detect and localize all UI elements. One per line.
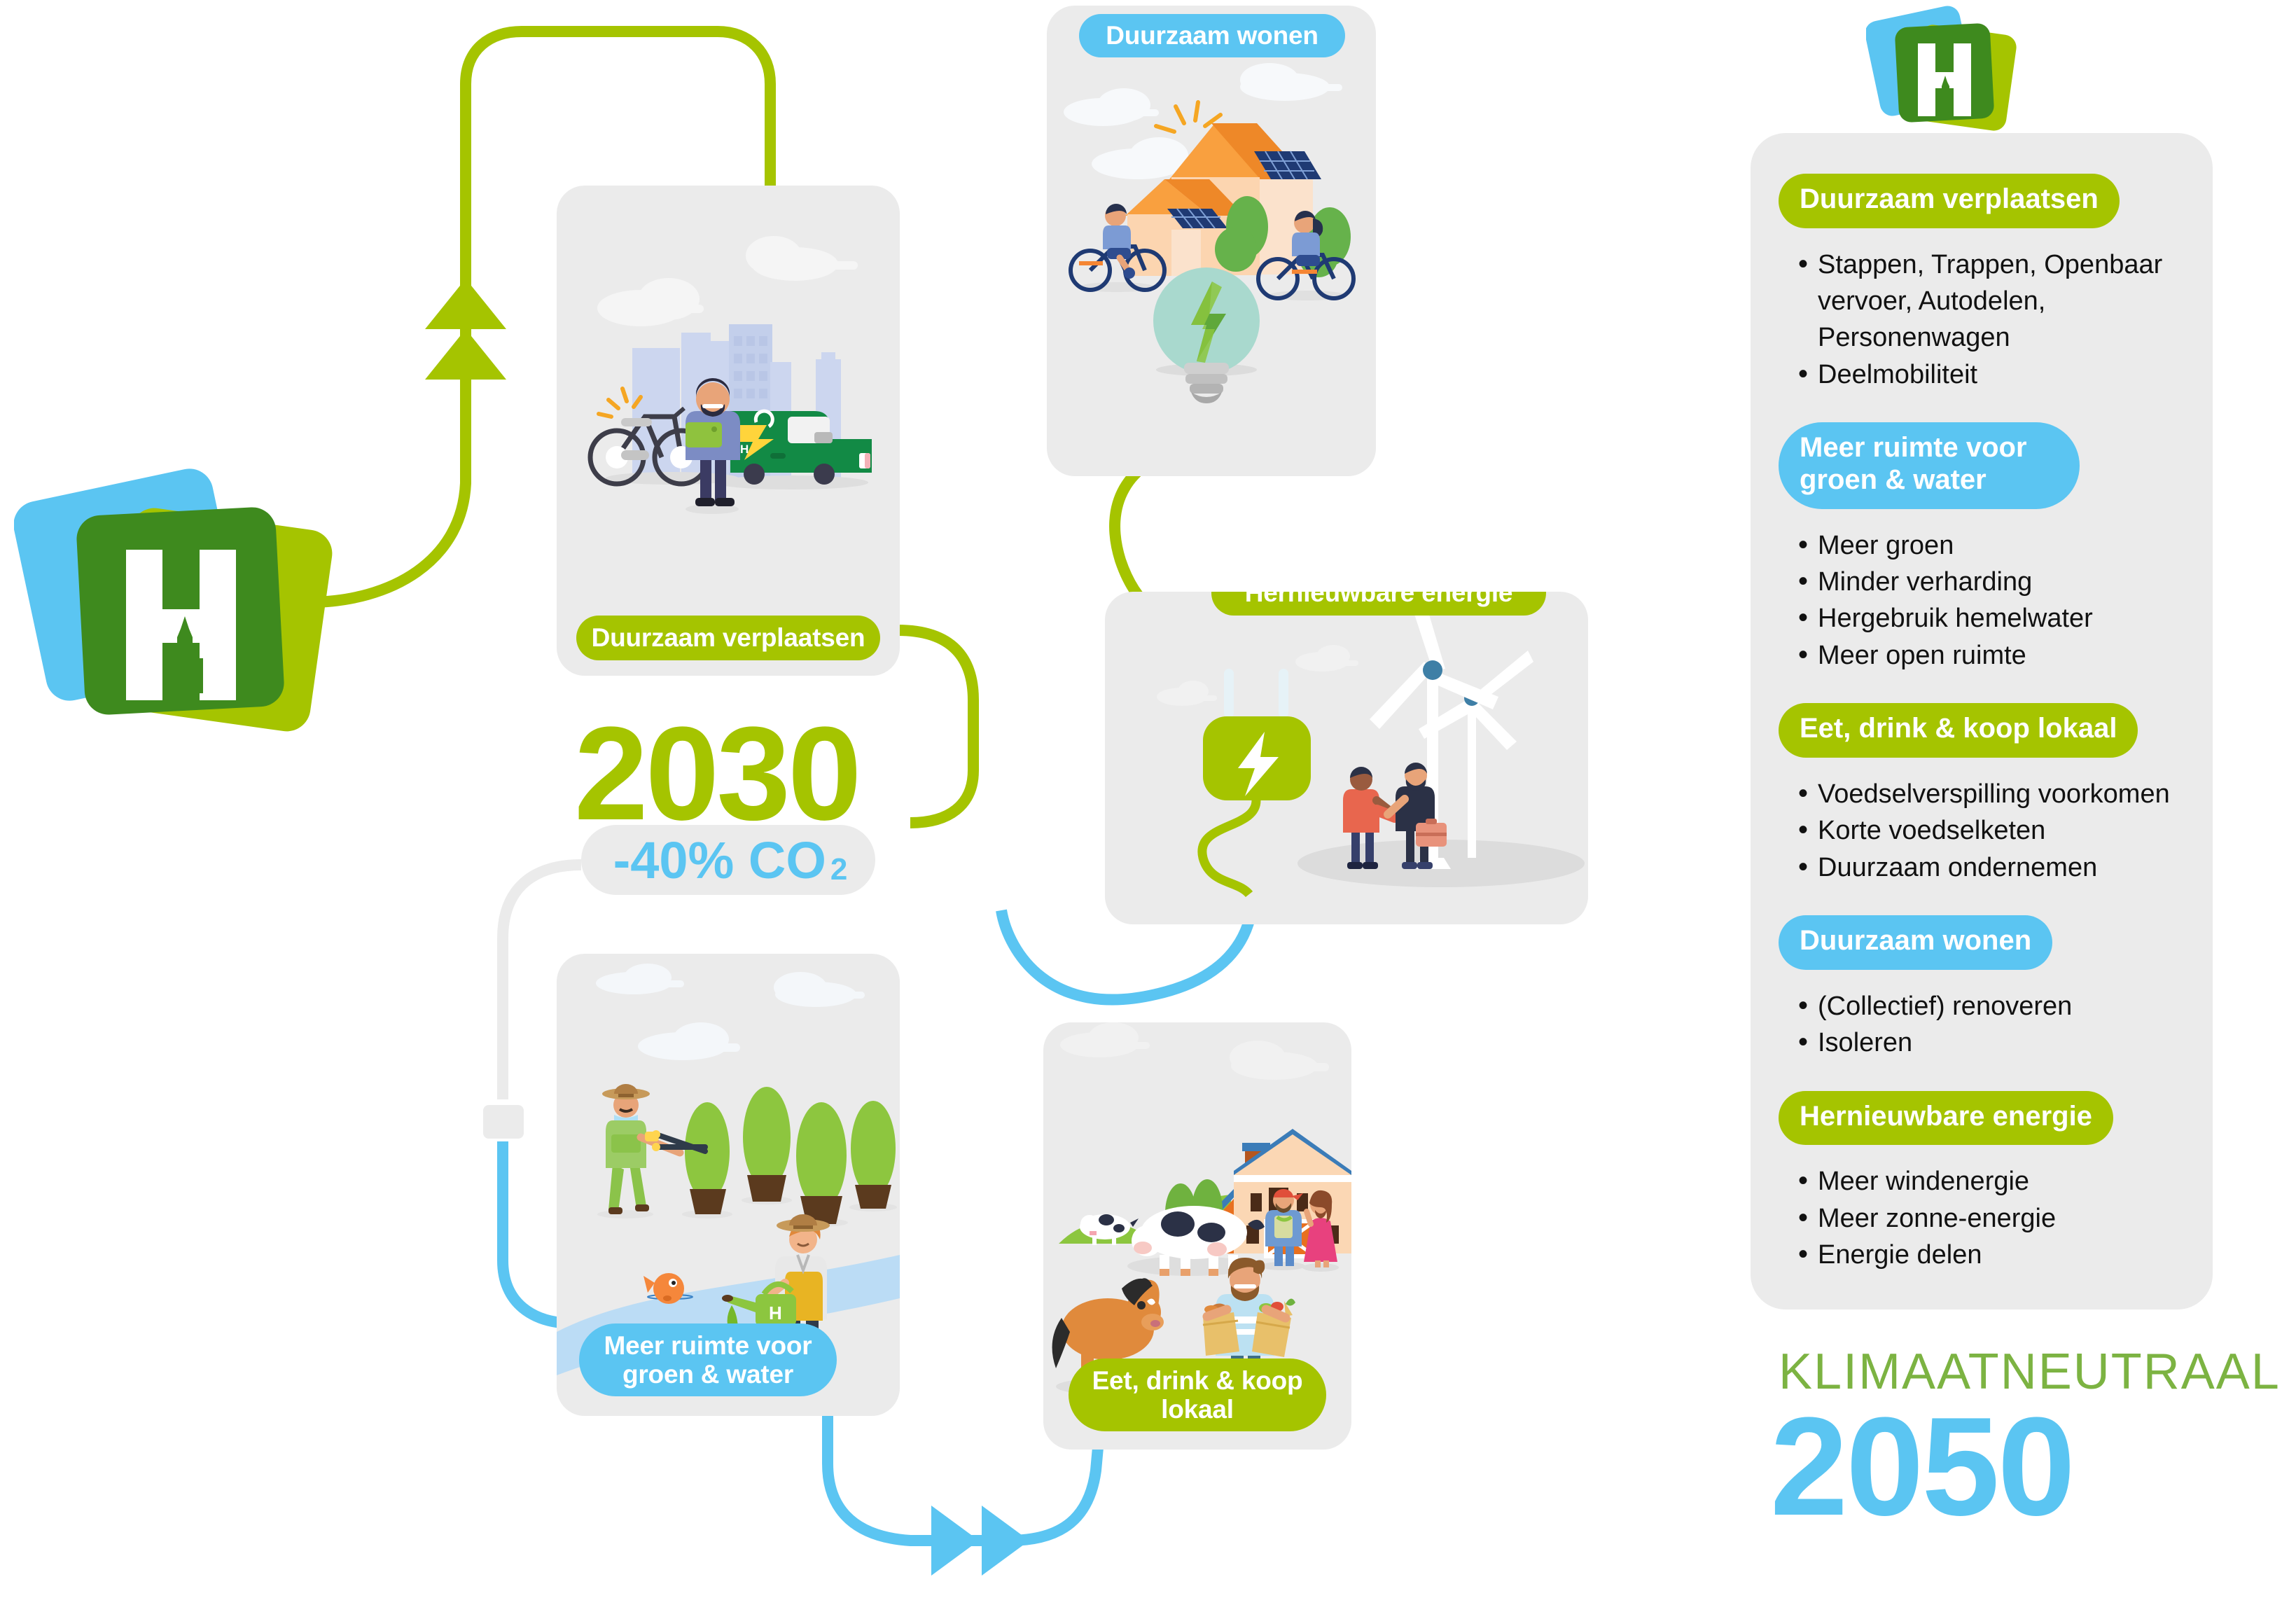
- card-label-meer-ruimte-groen-water[interactable]: Meer ruimte voor groen & water: [579, 1323, 837, 1396]
- legend-items-duurzaam-wonen: (Collectief) renoveren Isoleren: [1794, 988, 2185, 1062]
- flow-line-verplaatsen-to-2030: [898, 630, 973, 823]
- list-item: Meer zonne-energie: [1794, 1200, 2185, 1237]
- arrow-chevrons-up-green: [425, 279, 506, 380]
- flow-line-groen-to-lokaal: [828, 1401, 1008, 1541]
- potted-tree: [849, 1101, 897, 1211]
- milestone-2030-year: 2030: [574, 707, 859, 840]
- list-item: (Collectief) renoveren: [1794, 988, 2185, 1024]
- card-meer-ruimte-groen-water[interactable]: H Meer ruimte voor groen & water: [557, 954, 900, 1416]
- electric-plug-icon: [1202, 669, 1311, 894]
- illustration-duurzaam-wonen: [1047, 6, 1376, 476]
- illustration-hernieuwbare-energie: [1105, 592, 1588, 924]
- list-item: Isoleren: [1794, 1024, 2185, 1061]
- flow-connector-block: [483, 1105, 524, 1139]
- legend-items-duurzaam-verplaatsen: Stappen, Trappen, Openbaar vervoer, Auto…: [1794, 246, 2185, 394]
- electric-van: H: [730, 411, 872, 485]
- list-item: Meer open ruimte: [1794, 637, 2185, 674]
- legend-title-duurzaam-wonen[interactable]: Duurzaam wonen: [1779, 915, 2052, 970]
- logo-halle-top-right[interactable]: [1866, 0, 2027, 140]
- legend-title-meer-ruimte-groen-water[interactable]: Meer ruimte voor groen & water: [1779, 422, 2080, 508]
- year-2050-text: 2050: [1770, 1389, 2073, 1545]
- cloud-icon: [597, 236, 858, 326]
- legend-title-text: Eet, drink & koop lokaal: [1800, 713, 2117, 745]
- cloud-icon: [1157, 645, 1358, 706]
- card-label-eet-drink-koop-lokaal[interactable]: Eet, drink & koop lokaal: [1069, 1359, 1326, 1431]
- infographic-canvas: H: [0, 0, 2296, 1619]
- card-label-text: Meer ruimte voor groen & water: [579, 1331, 837, 1389]
- legend-items-hernieuwbare-energie: Meer windenergie Meer zonne-energie Ener…: [1794, 1163, 2185, 1273]
- illustration-duurzaam-verplaatsen: H: [557, 186, 900, 676]
- cloud-icon: [1060, 1022, 1329, 1080]
- legend-title-text: Hernieuwbare energie: [1800, 1101, 2092, 1133]
- svg-text:H: H: [769, 1302, 782, 1323]
- list-item: Hergebruik hemelwater: [1794, 600, 2185, 637]
- potted-tree: [682, 1102, 732, 1218]
- legend-group-duurzaam-verplaatsen: Duurzaam verplaatsen Stappen, Trappen, O…: [1779, 174, 2185, 393]
- legend-title-duurzaam-verplaatsen[interactable]: Duurzaam verplaatsen: [1779, 174, 2120, 228]
- legend-items-eet-drink-koop-lokaal: Voedselverspilling voorkomen Korte voeds…: [1794, 776, 2185, 886]
- card-label-hernieuwbare-energie[interactable]: Hernieuwbare energie: [1211, 592, 1546, 616]
- svg-text:H: H: [740, 443, 749, 456]
- card-duurzaam-verplaatsen[interactable]: H: [557, 186, 900, 676]
- list-item: Duurzaam ondernemen: [1794, 849, 2185, 886]
- co2-target-text: -40% CO: [613, 831, 826, 890]
- list-item: Deelmobiliteit: [1794, 356, 2185, 393]
- list-item: Meer groen: [1794, 527, 2185, 564]
- list-item: Meer windenergie: [1794, 1163, 2185, 1200]
- legend-title-text: Duurzaam wonen: [1800, 925, 2031, 957]
- list-item: Voedselverspilling voorkomen: [1794, 776, 2185, 812]
- legend-items-meer-ruimte-groen-water: Meer groen Minder verharding Hergebruik …: [1794, 527, 2185, 674]
- card-label-text: Hernieuwbare energie: [1245, 592, 1513, 608]
- potted-tree: [795, 1102, 848, 1227]
- list-item: Energie delen: [1794, 1237, 2185, 1273]
- card-label-duurzaam-verplaatsen[interactable]: Duurzaam verplaatsen: [576, 616, 880, 660]
- legend-group-duurzaam-wonen: Duurzaam wonen (Collectief) renoveren Is…: [1779, 915, 2185, 1061]
- legend-title-eet-drink-koop-lokaal[interactable]: Eet, drink & koop lokaal: [1779, 703, 2138, 758]
- legend-title-text: Duurzaam verplaatsen: [1800, 183, 2099, 216]
- co2-subscript: 2: [830, 852, 847, 887]
- logo-halle-left[interactable]: [14, 441, 336, 763]
- list-item: Stappen, Trappen, Openbaar vervoer, Auto…: [1794, 246, 2185, 356]
- arrow-chevrons-right-blue: [931, 1506, 1029, 1576]
- card-duurzaam-wonen[interactable]: Duurzaam wonen: [1047, 6, 1376, 476]
- potted-tree: [742, 1087, 792, 1204]
- legend-title-text: Meer ruimte voor groen & water: [1800, 432, 2059, 496]
- legend-group-eet-drink-koop-lokaal: Eet, drink & koop lokaal Voedselverspill…: [1779, 703, 2185, 886]
- milestone-2030-co2-badge: -40% CO2: [581, 825, 875, 895]
- milestone-2050-year: 2050: [1770, 1397, 2073, 1537]
- card-label-text: Duurzaam wonen: [1106, 21, 1319, 50]
- card-label-duurzaam-wonen[interactable]: Duurzaam wonen: [1079, 14, 1345, 57]
- card-eet-drink-koop-lokaal[interactable]: Eet, drink & koop lokaal: [1043, 1022, 1351, 1450]
- legend-group-meer-ruimte-groen-water: Meer ruimte voor groen & water Meer groe…: [1779, 422, 2185, 674]
- sun-sparkle-icon: [1156, 102, 1220, 132]
- cloud-icon: [596, 964, 865, 1060]
- green-energy-lightbulb: [1153, 267, 1260, 403]
- ground-shadow: [714, 475, 868, 489]
- legend-title-hernieuwbare-energie[interactable]: Hernieuwbare energie: [1779, 1091, 2113, 1146]
- card-label-text: Duurzaam verplaatsen: [592, 623, 865, 652]
- legend-panel: Duurzaam verplaatsen Stappen, Trappen, O…: [1751, 133, 2213, 1309]
- list-item: Minder verharding: [1794, 564, 2185, 600]
- list-item: Korte voedselketen: [1794, 812, 2185, 849]
- card-hernieuwbare-energie[interactable]: Hernieuwbare energie: [1105, 592, 1588, 924]
- card-label-text: Eet, drink & koop lokaal: [1069, 1366, 1326, 1424]
- legend-group-hernieuwbare-energie: Hernieuwbare energie Meer windenergie Me…: [1779, 1091, 2185, 1274]
